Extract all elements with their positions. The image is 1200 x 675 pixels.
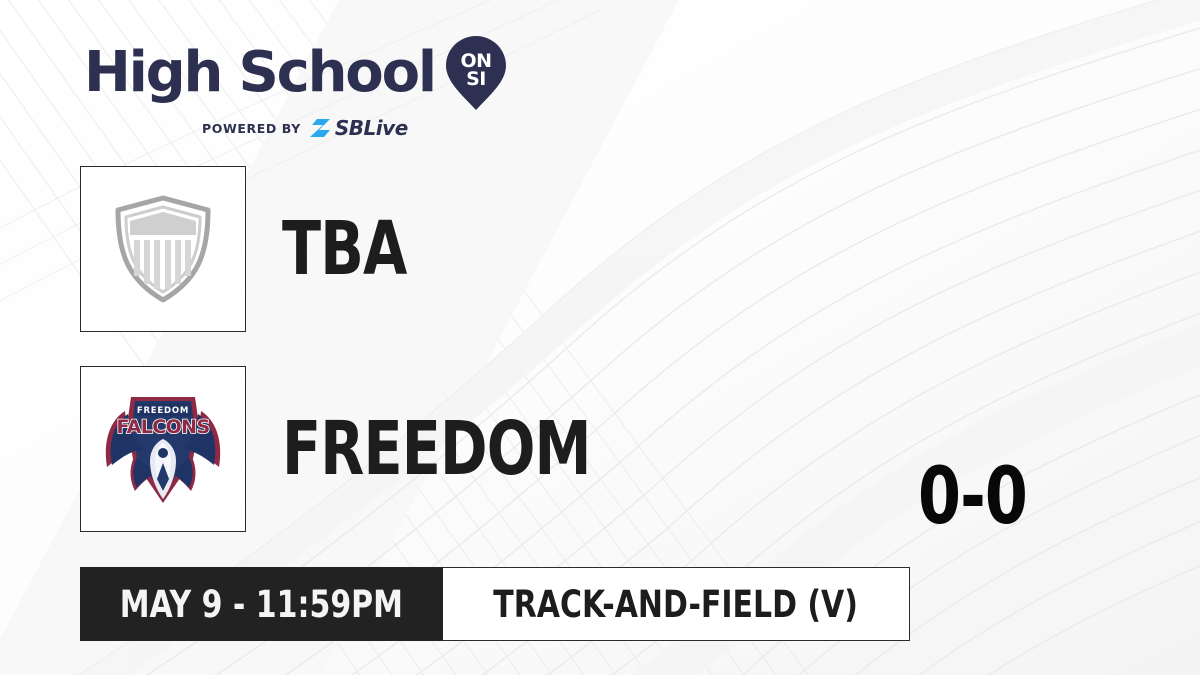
sblive-mark-icon [308,118,332,138]
svg-text:SI: SI [466,68,486,90]
game-datetime-panel: MAY 9 - 11:59PM [80,567,443,641]
team-row: FREEDOM FALCONS FREEDOM [80,366,641,532]
game-datetime-text: MAY 9 - 11:59PM [120,586,403,623]
team-name: FREEDOM [282,412,591,486]
sblive-logo: SBLive [308,118,408,138]
freedom-banner-text: FREEDOM [137,406,189,416]
brand-title-row: High School ON SI [84,36,507,110]
score-display: 0-0 [918,458,1027,536]
matchup-graphic: High School ON SI POWERED BY SBLive [0,0,1200,675]
game-sport-panel: TRACK-AND-FIELD (V) [443,567,910,641]
falcons-wordmark-text: FALCONS [116,416,209,438]
team-row: TBA [80,166,427,332]
team-logo-box: FREEDOM FALCONS [80,366,246,532]
powered-by-label: POWERED BY [202,121,301,136]
powered-by-row: POWERED BY SBLive [202,118,507,138]
brand-lockup: High School ON SI POWERED BY SBLive [84,36,507,138]
on-si-pin-icon: ON SI [445,36,507,110]
team-name: TBA [282,212,406,286]
game-info-bar: MAY 9 - 11:59PM TRACK-AND-FIELD (V) [80,567,910,641]
brand-title: High School [84,45,435,101]
placeholder-shield-icon [113,195,213,303]
game-sport-text: TRACK-AND-FIELD (V) [493,586,858,623]
freedom-falcons-logo-icon: FREEDOM FALCONS [95,381,231,517]
team-logo-box [80,166,246,332]
sblive-wordmark: SBLive [335,118,408,138]
